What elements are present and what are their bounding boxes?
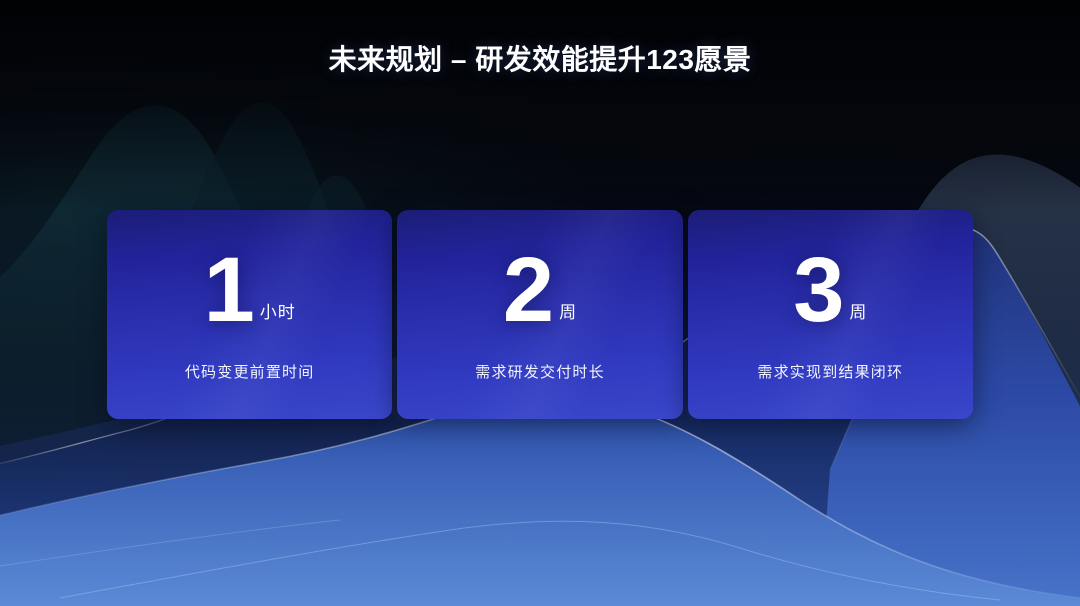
- metric-unit-2: 周: [559, 298, 577, 323]
- metric-unit-3: 周: [849, 298, 867, 323]
- mountain-accent-streak-lower: [60, 521, 1000, 600]
- metric-value-group-3: 3 周: [793, 253, 867, 328]
- metric-unit-1: 小时: [260, 298, 296, 323]
- metric-card-3[interactable]: 3 周 需求实现到结果闭环: [688, 210, 973, 419]
- presentation-slide: 未来规划 – 研发效能提升123愿景 1 小时 代码变更前置时间 2 周 需求研…: [0, 0, 1080, 606]
- mountain-foreground: [0, 395, 1080, 606]
- metric-label-2: 需求研发交付时长: [475, 361, 605, 382]
- mountain-accent-streak-left: [0, 520, 340, 566]
- metric-card-list: 1 小时 代码变更前置时间 2 周 需求研发交付时长 3 周 需求实现到结果闭环: [107, 210, 973, 419]
- metric-label-3: 需求实现到结果闭环: [757, 361, 903, 382]
- metric-value-group-1: 1 小时: [204, 253, 296, 328]
- metric-number-1: 1: [204, 253, 253, 328]
- page-title: 未来规划 – 研发效能提升123愿景: [0, 38, 1080, 78]
- metric-value-group-2: 2 周: [503, 253, 577, 328]
- metric-card-2[interactable]: 2 周 需求研发交付时长: [397, 210, 682, 419]
- metric-card-1[interactable]: 1 小时 代码变更前置时间: [107, 210, 392, 419]
- header-fade-overlay: [0, 0, 1080, 210]
- metric-number-3: 3: [793, 253, 842, 328]
- metric-number-2: 2: [503, 253, 552, 328]
- metric-label-1: 代码变更前置时间: [185, 361, 315, 382]
- mountain-glow-line-foreground: [0, 395, 1080, 600]
